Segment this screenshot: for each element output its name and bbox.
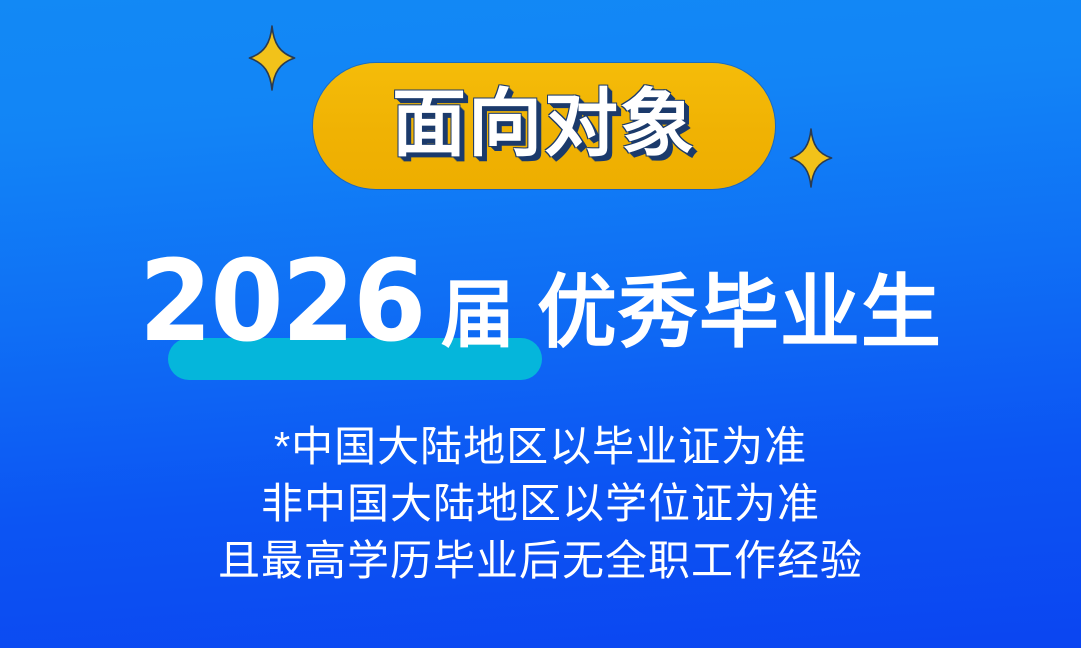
recruitment-poster: 面向对象 2026 届 优秀毕业生 *中国大陆地区以毕业证为准 非中国大陆地区以… bbox=[0, 0, 1081, 648]
footnote-line: 非中国大陆地区以学位证为准 bbox=[0, 475, 1081, 532]
sparkle-icon bbox=[789, 128, 833, 188]
headline-year: 2026 bbox=[139, 246, 424, 358]
headline-subject: 优秀毕业生 bbox=[537, 273, 942, 353]
footnote-line: *中国大陆地区以毕业证为准 bbox=[0, 418, 1081, 475]
headline-row: 2026 届 优秀毕业生 bbox=[0, 246, 1081, 376]
section-badge-label: 面向对象 bbox=[392, 87, 696, 161]
section-badge: 面向对象 bbox=[313, 63, 775, 189]
headline-year-suffix: 届 bbox=[441, 278, 515, 352]
sparkle-icon bbox=[248, 25, 296, 91]
footnote-block: *中国大陆地区以毕业证为准 非中国大陆地区以学位证为准 且最高学历毕业后无全职工… bbox=[0, 418, 1081, 589]
footnote-line: 且最高学历毕业后无全职工作经验 bbox=[0, 532, 1081, 589]
headline: 2026 届 优秀毕业生 bbox=[0, 246, 1081, 376]
